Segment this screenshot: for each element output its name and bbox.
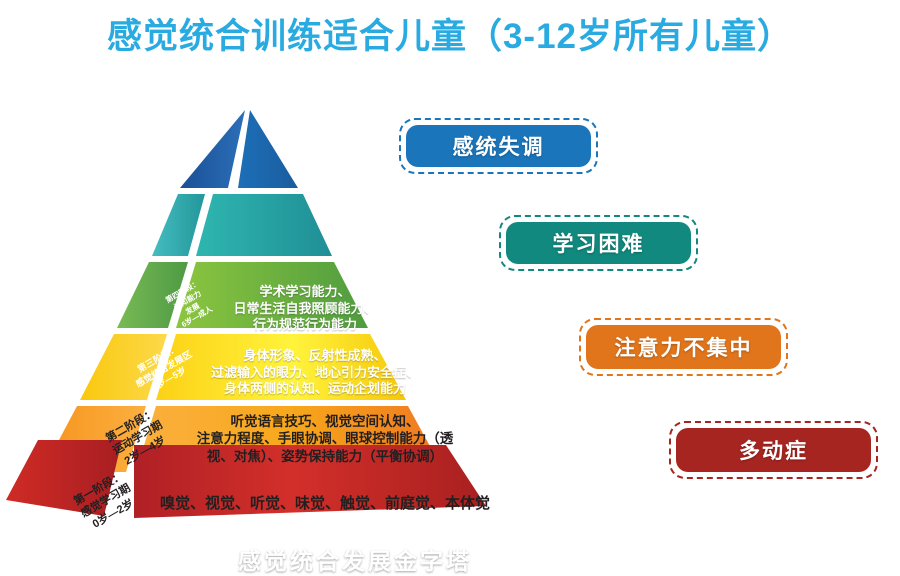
pyramid-apex: [180, 110, 298, 188]
callout-label: 多动症: [676, 428, 871, 472]
pyramid-base: [6, 440, 486, 518]
callout-label: 学习困难: [506, 222, 691, 264]
pyramid-tier-3: [117, 262, 368, 328]
callout-learning-difficulty[interactable]: 学习困难: [499, 215, 698, 271]
pyramid-base-label: 感觉统合发展金字塔: [190, 547, 520, 576]
callout-label: 注意力不集中: [586, 325, 781, 369]
pyramid-tier-4: [152, 194, 332, 256]
callout-sensory-integration-disorder[interactable]: 感统失调: [399, 118, 598, 174]
callout-label: 感统失调: [406, 125, 591, 167]
callout-inattention[interactable]: 注意力不集中: [579, 318, 788, 376]
callout-adhd[interactable]: 多动症: [669, 421, 878, 479]
pyramid-tier-2: [80, 334, 406, 400]
page-title: 感觉统合训练适合儿童（3-12岁所有儿童）: [0, 8, 900, 59]
